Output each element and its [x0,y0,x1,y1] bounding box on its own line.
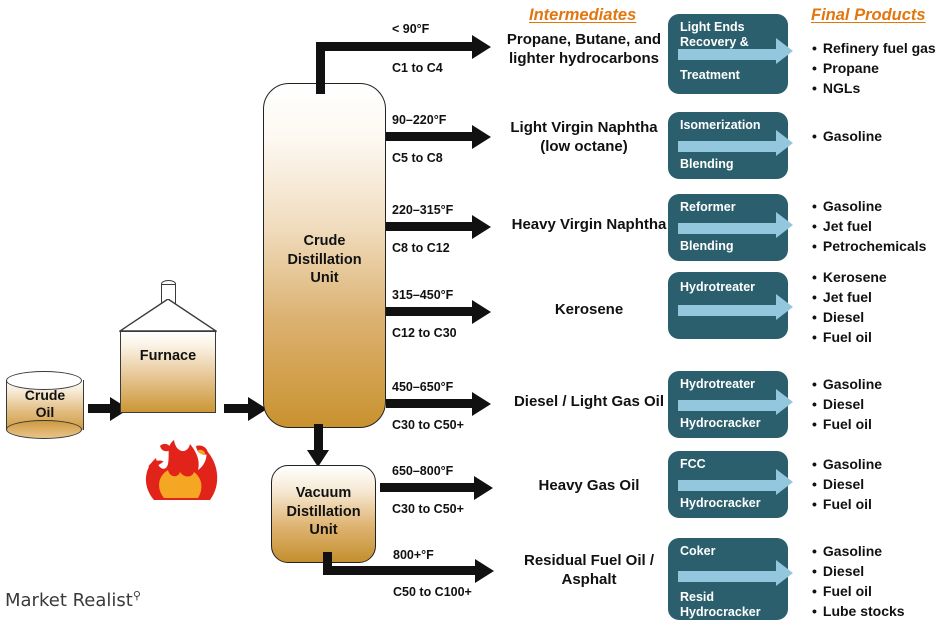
flame-icon [140,428,224,504]
cdu-label-line3: Unit [264,269,385,288]
final-products-list-6: Gasoline Diesel Fuel oil [812,454,882,514]
stream-1-intermediate-line1: Propane, Butane, and [507,31,661,48]
stream-2-intermediate: Light Virgin Naphtha (low octane) [494,118,674,156]
stream-5-temp: 450–650°F [392,380,453,394]
list-item: NGLs [812,78,936,98]
final-products-header: Final Products [811,6,926,25]
stream-7-carbon: C50 to C100+ [393,585,472,599]
stream-1-carbon: C1 to C4 [392,61,443,75]
process-box-7-top-label: Coker [680,544,715,559]
list-item: Gasoline [812,454,882,474]
final-products-list-5: Gasoline Diesel Fuel oil [812,374,882,434]
final-products-list-7: Gasoline Diesel Fuel oil Lube stocks [812,541,905,621]
process-box-1-line2: Recovery & [680,35,749,49]
process-box-6-top-label: FCC [680,457,706,472]
arrow-cdu-to-vdu [306,424,332,468]
stream-4-temp: 315–450°F [392,288,453,302]
stream-2-intermediate-line2: (low octane) [540,138,628,155]
stream-2-intermediate-line1: Light Virgin Naphtha [510,119,657,136]
process-box-1-top-label: Light Ends Recovery & [680,20,749,50]
process-box-isomerization[interactable]: Isomerization Blending [668,112,788,179]
process-box-1-bottom-label: Treatment [680,68,740,83]
list-item: Jet fuel [812,216,926,236]
process-box-5-top-label: Hydrotreater [680,377,755,392]
process-box-fcc[interactable]: FCC Hydrocracker [668,451,788,518]
stream-5-carbon: C30 to C50+ [392,418,464,432]
list-item: Propane [812,58,936,78]
process-box-5-bottom-label: Hydrocracker [680,416,761,431]
vacuum-distillation-unit: Vacuum Distillation Unit [271,465,376,563]
list-item: Lube stocks [812,601,905,621]
list-item: Diesel [812,561,905,581]
stream-7-intermediate-line1: Residual Fuel Oil / [524,552,654,569]
final-products-list-2: Gasoline [812,126,882,146]
tank-bottom-ellipse [6,420,82,439]
process-box-6-bottom-label: Hydrocracker [680,496,761,511]
list-item: Fuel oil [812,581,905,601]
stream-1-intermediate-line2: lighter hydrocarbons [509,50,659,67]
cdu-label-line2: Distillation [264,251,385,270]
list-item: Petrochemicals [812,236,926,256]
furnace-label: Furnace [120,348,216,364]
process-box-reformer[interactable]: Reformer Blending [668,194,788,261]
magnifier-icon: ⚲ [133,589,141,602]
stream-2-carbon: C5 to C8 [392,151,443,165]
process-box-hydrotreater-hydrocracker[interactable]: Hydrotreater Hydrocracker [668,371,788,438]
crude-distillation-unit: Crude Distillation Unit [263,83,386,428]
crude-tank-label: Crude Oil [6,387,84,421]
list-item: Gasoline [812,126,882,146]
stream-7-intermediate: Residual Fuel Oil / Asphalt [494,551,684,589]
list-item: Refinery fuel gas [812,38,936,58]
stream-4-intermediate: Kerosene [494,300,684,319]
vdu-label-line1: Vacuum [272,484,375,503]
stream-7-intermediate-line2: Asphalt [561,571,616,588]
list-item: Gasoline [812,196,926,216]
process-box-3-bottom-label: Blending [680,239,733,254]
list-item: Fuel oil [812,414,882,434]
process-box-light-ends[interactable]: Light Ends Recovery & Treatment [668,14,788,94]
cdu-label: Crude Distillation Unit [264,232,385,288]
stream-2-temp: 90–220°F [392,113,446,127]
final-products-list-4: Kerosene Jet fuel Diesel Fuel oil [812,267,887,347]
stream-5-intermediate: Diesel / Light Gas Oil [494,392,684,411]
furnace-body [120,331,216,413]
stream-3-intermediate-line1: Heavy Virgin Naphtha [512,216,667,233]
list-item: Fuel oil [812,494,882,514]
list-item: Diesel [812,474,882,494]
list-item: Gasoline [812,374,882,394]
final-products-list-3: Gasoline Jet fuel Petrochemicals [812,196,926,256]
final-products-list-1: Refinery fuel gas Propane NGLs [812,38,936,98]
stream-6-intermediate: Heavy Gas Oil [494,476,684,495]
furnace: Furnace [120,284,218,415]
process-box-coker[interactable]: Coker Resid Hydrocracker [668,538,788,620]
stream-3-temp: 220–315°F [392,203,453,217]
vdu-label-line3: Unit [272,521,375,540]
cdu-label-line1: Crude [264,232,385,251]
list-item: Kerosene [812,267,887,287]
list-item: Fuel oil [812,327,887,347]
stream-3-carbon: C8 to C12 [392,241,450,255]
process-box-4-top-label: Hydrotreater [680,280,755,295]
stream-1-intermediate: Propane, Butane, and lighter hydrocarbon… [494,30,674,68]
watermark-text: Market Realist [5,590,133,611]
process-box-7-bottom-line2: Hydrocracker [680,605,761,619]
process-box-7-bottom-label: Resid Hydrocracker [680,590,761,620]
stream-5-intermediate-line1: Diesel / Light Gas Oil [514,393,664,410]
crude-oil-tank: Crude Oil [6,371,84,439]
stream-6-carbon: C30 to C50+ [392,502,464,516]
stream-3-intermediate: Heavy Virgin Naphtha [494,215,684,234]
stream-6-intermediate-line1: Heavy Gas Oil [539,477,640,494]
process-box-2-top-label: Isomerization [680,118,761,133]
stream-1-temp: < 90°F [392,22,429,36]
stream-4-intermediate-line1: Kerosene [555,301,623,318]
furnace-roof-icon [119,299,217,332]
stream-7-temp: 800+°F [393,548,434,562]
crude-tank-label-line1: Crude [6,387,84,404]
process-box-1-line1: Light Ends [680,20,745,34]
process-box-3-top-label: Reformer [680,200,736,215]
stream-4-carbon: C12 to C30 [392,326,457,340]
watermark: Market Realist⚲ [5,589,141,611]
stream-6-temp: 650–800°F [392,464,453,478]
list-item: Gasoline [812,541,905,561]
process-box-7-bottom-line1: Resid [680,590,714,604]
process-box-2-bottom-label: Blending [680,157,733,172]
crude-tank-label-line2: Oil [6,404,84,421]
vdu-label-line2: Distillation [272,503,375,522]
process-box-hydrotreater[interactable]: Hydrotreater [668,272,788,339]
intermediates-header: Intermediates [529,6,636,25]
vdu-label: Vacuum Distillation Unit [272,484,375,540]
list-item: Jet fuel [812,287,887,307]
list-item: Diesel [812,307,887,327]
list-item: Diesel [812,394,882,414]
arrow-furnace-to-cdu [224,397,268,421]
